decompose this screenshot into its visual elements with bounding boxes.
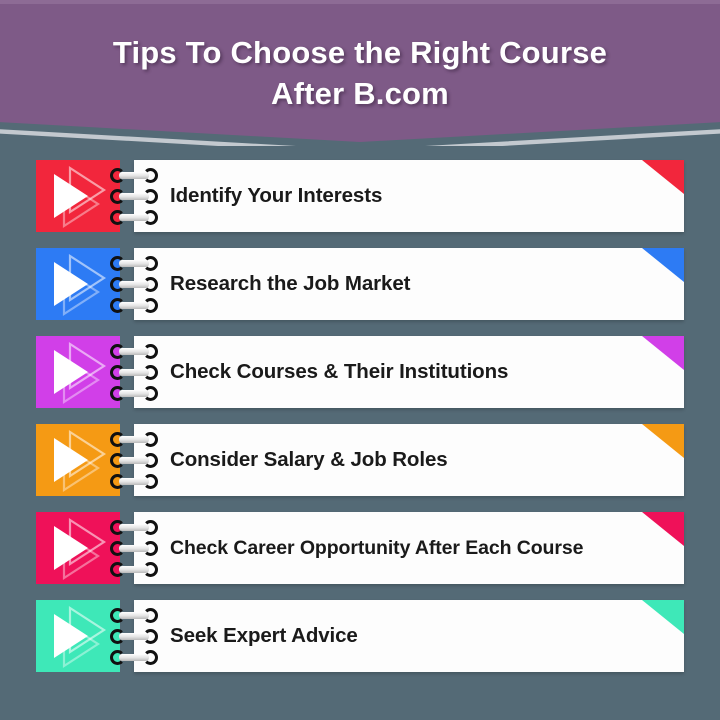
ring-hook-right <box>143 520 158 535</box>
spiral-binding <box>110 248 164 320</box>
ring-hook-right <box>143 629 158 644</box>
spiral-binding <box>110 424 164 496</box>
tip-card[interactable]: Check Courses & Their Institutions <box>134 336 684 408</box>
card-corner-accent <box>642 336 684 370</box>
tip-label: Research the Job Market <box>170 248 638 320</box>
tip-label: Identify Your Interests <box>170 160 638 232</box>
binding-ring <box>110 453 162 468</box>
card-corner-accent <box>642 424 684 458</box>
tip-icon-block <box>36 336 120 408</box>
title-line-2: After B.com <box>30 73 690 114</box>
tip-label: Check Courses & Their Institutions <box>170 336 638 408</box>
binding-ring <box>110 562 162 577</box>
play-arrow-icon <box>36 248 120 320</box>
tip-card[interactable]: Seek Expert Advice <box>134 600 684 672</box>
binding-ring <box>110 608 162 623</box>
tip-label: Seek Expert Advice <box>170 600 638 672</box>
ring-hook-right <box>143 189 158 204</box>
card-corner-accent <box>642 600 684 634</box>
ring-hook-right <box>143 210 158 225</box>
binding-ring <box>110 168 162 183</box>
ring-hook-right <box>143 608 158 623</box>
binding-ring <box>110 256 162 271</box>
poster-header: Tips To Choose the Right Course After B.… <box>0 0 720 142</box>
binding-ring <box>110 210 162 225</box>
card-corner-accent <box>642 512 684 546</box>
title-line-1: Tips To Choose the Right Course <box>113 35 607 70</box>
header-top-strip <box>0 0 720 4</box>
tip-row-4[interactable]: Consider Salary & Job Roles <box>0 424 720 496</box>
tip-card[interactable]: Consider Salary & Job Roles <box>134 424 684 496</box>
binding-ring <box>110 365 162 380</box>
play-arrow-icon <box>36 336 120 408</box>
tip-row-5[interactable]: Check Career Opportunity After Each Cour… <box>0 512 720 584</box>
play-arrow-icon <box>36 600 120 672</box>
ring-hook-right <box>143 168 158 183</box>
binding-ring <box>110 189 162 204</box>
tip-row-6[interactable]: Seek Expert Advice <box>0 600 720 672</box>
ring-hook-right <box>143 541 158 556</box>
ring-hook-right <box>143 277 158 292</box>
tip-card[interactable]: Research the Job Market <box>134 248 684 320</box>
binding-ring <box>110 277 162 292</box>
binding-ring <box>110 298 162 313</box>
binding-ring <box>110 541 162 556</box>
ring-hook-right <box>143 344 158 359</box>
ring-hook-right <box>143 562 158 577</box>
play-arrow-icon <box>36 424 120 496</box>
tip-row-3[interactable]: Check Courses & Their Institutions <box>0 336 720 408</box>
play-arrow-icon <box>36 160 120 232</box>
infographic-poster: Tips To Choose the Right Course After B.… <box>0 0 720 720</box>
card-corner-accent <box>642 248 684 282</box>
tip-row-1[interactable]: Identify Your Interests <box>0 160 720 232</box>
spiral-binding <box>110 160 164 232</box>
ring-hook-right <box>143 453 158 468</box>
binding-ring <box>110 344 162 359</box>
ring-hook-right <box>143 650 158 665</box>
tip-row-2[interactable]: Research the Job Market <box>0 248 720 320</box>
ring-hook-right <box>143 432 158 447</box>
spiral-binding <box>110 512 164 584</box>
poster-title: Tips To Choose the Right Course After B.… <box>0 32 720 114</box>
binding-ring <box>110 520 162 535</box>
binding-ring <box>110 474 162 489</box>
ring-hook-right <box>143 256 158 271</box>
ring-hook-right <box>143 298 158 313</box>
spiral-binding <box>110 600 164 672</box>
tip-icon-block <box>36 160 120 232</box>
tip-icon-block <box>36 512 120 584</box>
tip-icon-block <box>36 600 120 672</box>
tip-icon-block <box>36 248 120 320</box>
tip-label: Check Career Opportunity After Each Cour… <box>170 512 638 584</box>
tips-list: Identify Your Interests <box>0 160 720 688</box>
card-corner-accent <box>642 160 684 194</box>
ring-hook-right <box>143 474 158 489</box>
ring-hook-right <box>143 386 158 401</box>
play-arrow-icon <box>36 512 120 584</box>
binding-ring <box>110 386 162 401</box>
tip-label: Consider Salary & Job Roles <box>170 424 638 496</box>
binding-ring <box>110 432 162 447</box>
tip-icon-block <box>36 424 120 496</box>
tip-card[interactable]: Identify Your Interests <box>134 160 684 232</box>
ring-hook-right <box>143 365 158 380</box>
spiral-binding <box>110 336 164 408</box>
binding-ring <box>110 629 162 644</box>
tip-card[interactable]: Check Career Opportunity After Each Cour… <box>134 512 684 584</box>
binding-ring <box>110 650 162 665</box>
